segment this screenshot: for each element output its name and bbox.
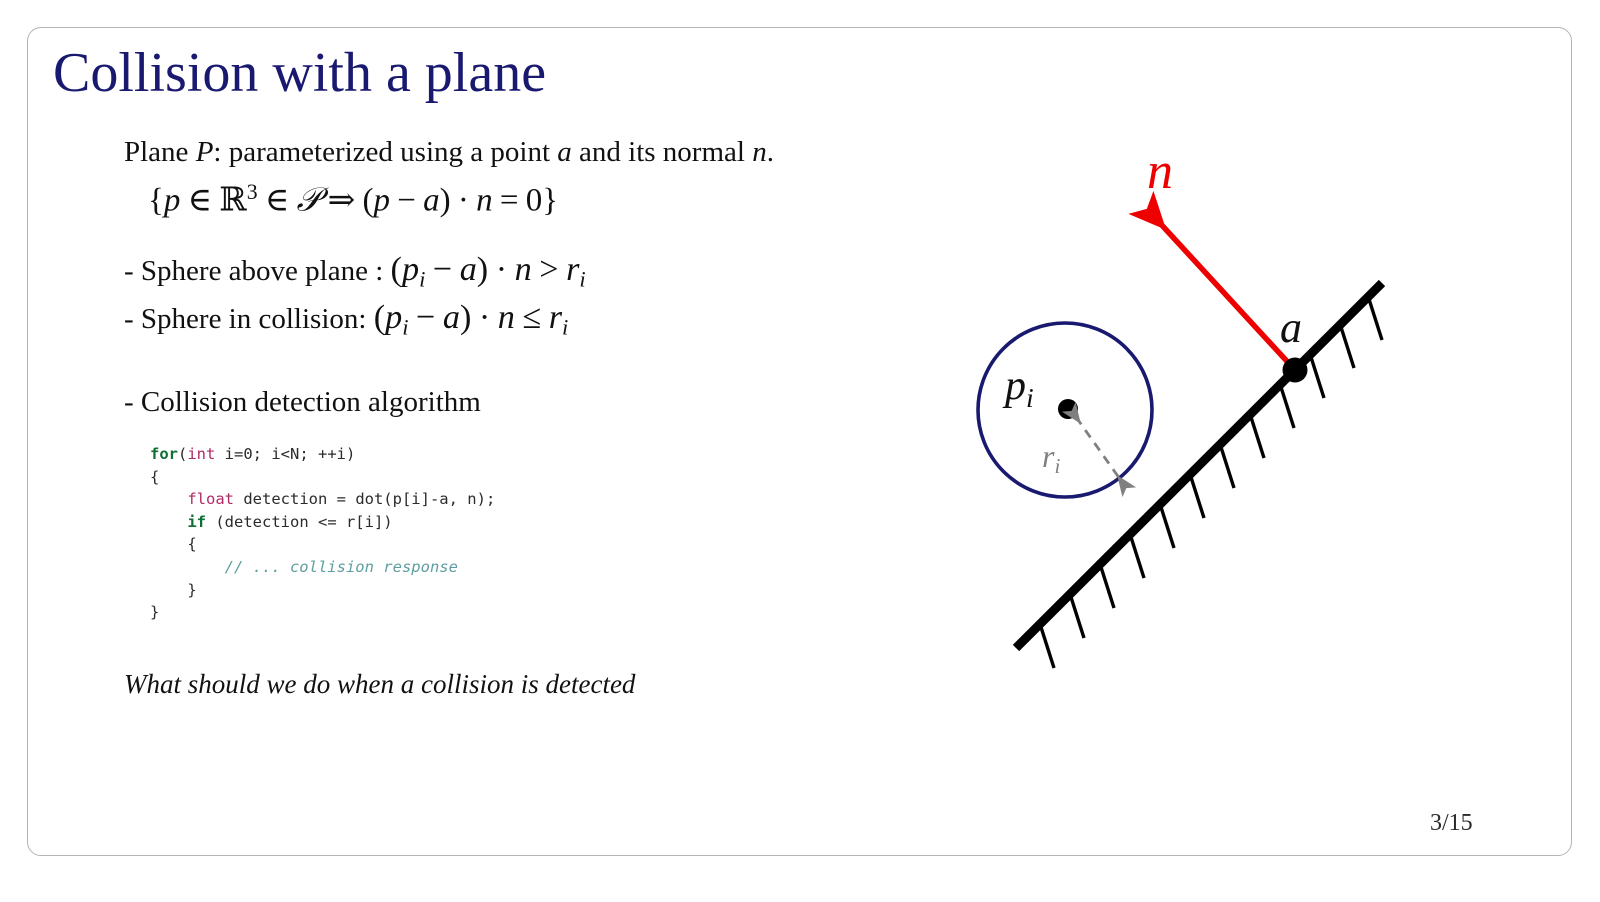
plane-definition-between: and its normal <box>572 136 752 168</box>
code-token-plain <box>150 490 187 508</box>
code-token-plain: detection = dot(p[i]-a, n); <box>234 490 495 508</box>
code-token-plain: (detection <= r[i]) <box>206 513 393 531</box>
code-line: // ... collision response <box>150 556 495 579</box>
plane-line-group <box>1016 283 1382 668</box>
code-token-plain: } <box>150 603 159 621</box>
code-token-plain: { <box>150 468 159 486</box>
page-number: 3/15 <box>1430 810 1473 837</box>
condition-sphere-above-plane: - Sphere above plane : (pi−a)·n>ri <box>124 253 586 291</box>
code-line: float detection = dot(p[i]-a, n); <box>150 488 495 511</box>
condition-equation-collision: (pi−a)·n≤ri <box>374 299 569 336</box>
code-token-plain: ( <box>178 445 187 463</box>
code-token-plain <box>150 513 187 531</box>
code-token-plain: { <box>150 535 197 553</box>
condition-label-collision: - Sphere in collision: <box>124 303 366 335</box>
code-token-kw: if <box>187 513 206 531</box>
code-line: } <box>150 579 495 602</box>
code-line: } <box>150 601 495 624</box>
plane-set-equation: {p∈ℝ3∈𝒫⇒(p−a)·n=0} <box>148 182 558 217</box>
condition-equation-above: (pi−a)·n>ri <box>391 251 586 288</box>
code-line: for(int i=0; i<N; ++i) <box>150 443 495 466</box>
code-token-comment: // ... collision response <box>225 558 458 576</box>
point-a-label: a <box>1280 302 1302 353</box>
plane-symbol: P <box>196 136 214 168</box>
algorithm-heading: - Collision detection algorithm <box>124 388 481 417</box>
condition-operator-above: > <box>539 251 558 288</box>
code-token-plain: i=0; i<N; ++i) <box>215 445 355 463</box>
page-title: Collision with a plane <box>53 44 546 103</box>
plane-point-a <box>1283 358 1308 383</box>
point-symbol: a <box>557 136 572 168</box>
condition-label-above: - Sphere above plane : <box>124 255 383 287</box>
code-line: { <box>150 533 495 556</box>
code-token-plain: } <box>150 581 197 599</box>
plane-definition-prefix: Plane <box>124 136 196 168</box>
plane-definition-line: Plane P: parameterized using a point a a… <box>124 138 774 167</box>
code-block: for(int i=0; i<N; ++i){ float detection … <box>150 443 495 624</box>
collision-diagram: n a pi ri <box>950 120 1470 700</box>
sphere-center-point <box>1058 399 1078 419</box>
radius-label: ri <box>1042 438 1060 479</box>
code-line: { <box>150 466 495 489</box>
code-token-type: int <box>187 445 215 463</box>
code-token-type: float <box>187 490 234 508</box>
sphere-center-label: pi <box>1005 362 1034 414</box>
plane-definition-middle: : parameterized using a point <box>213 136 557 168</box>
normal-vector-arrow <box>1158 221 1295 370</box>
code-line: if (detection <= r[i]) <box>150 511 495 534</box>
normal-label: n <box>1147 142 1173 201</box>
closing-question: What should we do when a collision is de… <box>124 671 635 698</box>
condition-sphere-in-collision: - Sphere in collision: (pi−a)·n≤ri <box>124 301 568 339</box>
normal-symbol: n <box>752 136 767 168</box>
condition-operator-collision: ≤ <box>522 299 541 336</box>
plane-definition-suffix: . <box>767 136 774 168</box>
code-token-plain <box>150 558 225 576</box>
radius-arrow <box>1076 417 1122 482</box>
code-token-kw: for <box>150 445 178 463</box>
